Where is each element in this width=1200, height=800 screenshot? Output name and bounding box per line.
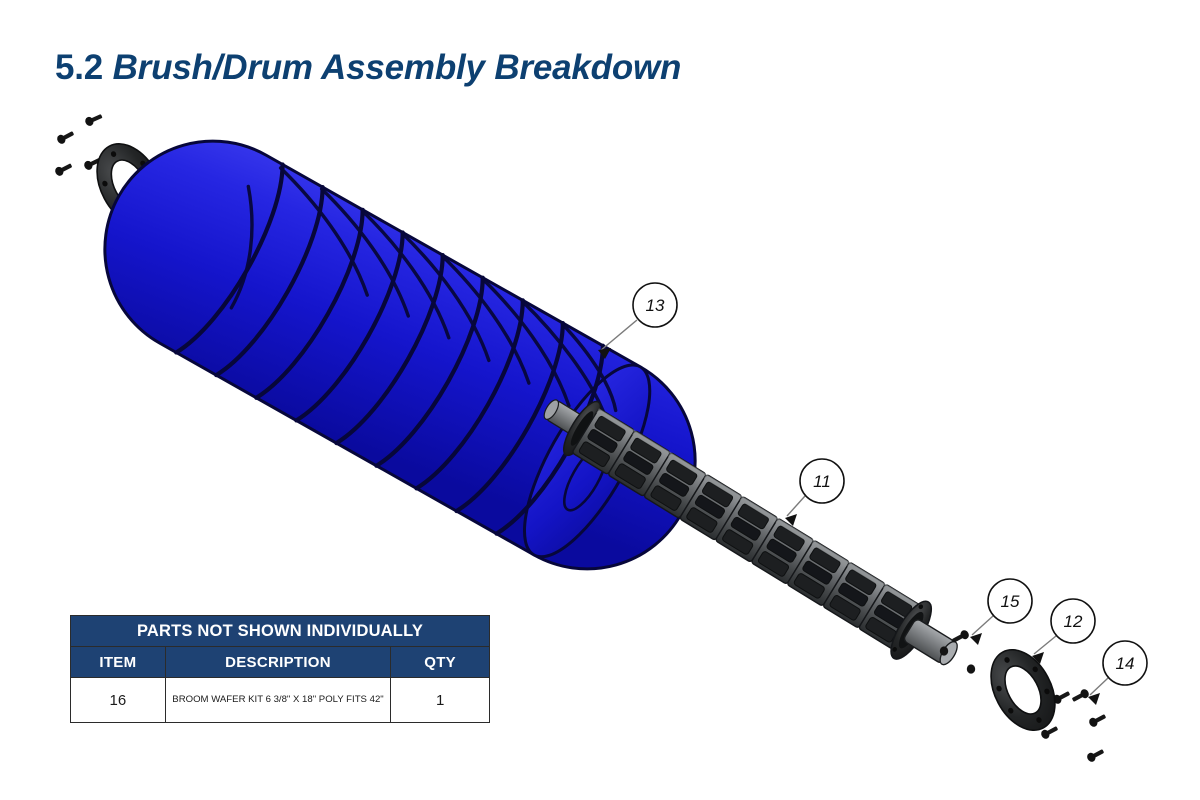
balloon-11-label: 11 — [813, 472, 831, 491]
balloon-15-label: 15 — [1001, 592, 1020, 611]
column-header-item: ITEM — [71, 647, 166, 678]
balloon-12[interactable]: 12 — [1051, 599, 1095, 643]
bolt-right-5 — [1088, 712, 1108, 728]
bolt-14 — [1071, 688, 1091, 704]
table-header-row: ITEM DESCRIPTION QTY — [71, 647, 490, 678]
page-root: 5.2 Brush/Drum Assembly Breakdown — [0, 0, 1200, 800]
nut-right-1 — [940, 646, 948, 655]
cell-description: BROOM WAFER KIT 6 3/8" X 18" POLY FITS 4… — [165, 678, 391, 723]
bolt-left-1 — [56, 129, 76, 145]
balloon-11[interactable]: 11 — [800, 459, 844, 503]
balloon-14[interactable]: 14 — [1103, 641, 1147, 685]
column-header-description: DESCRIPTION — [165, 647, 391, 678]
cell-qty: 1 — [391, 678, 490, 723]
bolt-left-2 — [84, 112, 104, 128]
column-header-qty: QTY — [391, 647, 490, 678]
table-caption: PARTS NOT SHOWN INDIVIDUALLY — [71, 616, 490, 647]
balloon-13[interactable]: 13 — [633, 283, 677, 327]
nut-right-2 — [967, 664, 975, 673]
balloon-13-label: 13 — [646, 296, 665, 315]
balloon-12-label: 12 — [1064, 612, 1083, 631]
parts-not-shown-table: PARTS NOT SHOWN INDIVIDUALLY ITEM DESCRI… — [70, 615, 490, 723]
balloon-15[interactable]: 15 — [988, 579, 1032, 623]
cell-item: 16 — [71, 678, 166, 723]
table-caption-row: PARTS NOT SHOWN INDIVIDUALLY — [71, 616, 490, 647]
balloon-14-label: 14 — [1116, 654, 1135, 673]
bolt-left-4 — [54, 161, 74, 177]
table-row: 16 BROOM WAFER KIT 6 3/8" X 18" POLY FIT… — [71, 678, 490, 723]
brush-drum — [66, 102, 735, 608]
flange-right — [978, 639, 1068, 741]
bolt-right-6 — [1086, 747, 1106, 763]
shaft-stub-right — [903, 618, 961, 667]
